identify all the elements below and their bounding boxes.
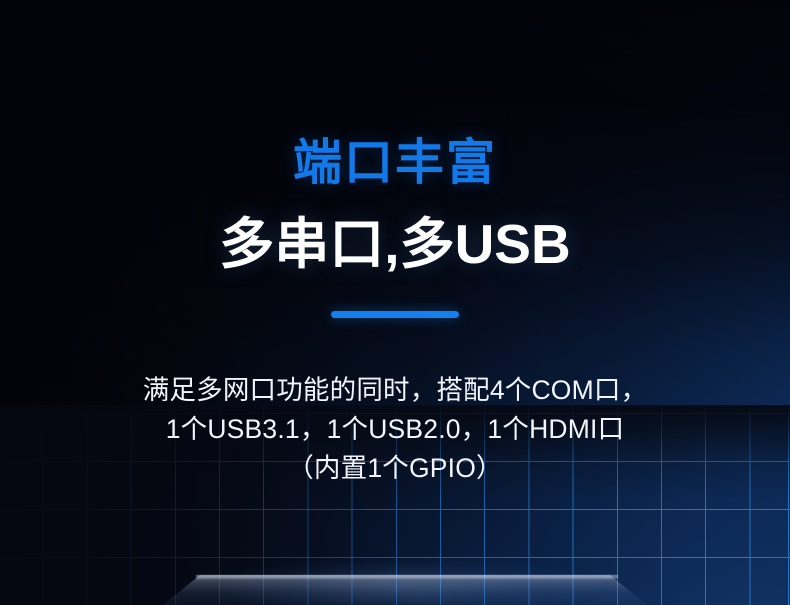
promo-banner: 端口丰富 多串口,多USB 满足多网口功能的同时，搭配4个COM口， 1个USB… (0, 0, 790, 605)
subtitle-line-3: （内置1个GPIO） (0, 449, 790, 488)
subtitle-line-1: 满足多网口功能的同时，搭配4个COM口， (0, 371, 790, 410)
subtitle-block: 满足多网口功能的同时，搭配4个COM口， 1个USB3.1，1个USB2.0，1… (0, 371, 790, 488)
headline-divider-bar (331, 311, 459, 318)
headline-primary: 端口丰富 (0, 139, 790, 188)
subtitle-line-2: 1个USB3.1，1个USB2.0，1个HDMI口 (0, 410, 790, 449)
banner-content: 端口丰富 多串口,多USB 满足多网口功能的同时，搭配4个COM口， 1个USB… (0, 0, 790, 605)
headline-secondary: 多串口,多USB (0, 217, 790, 272)
